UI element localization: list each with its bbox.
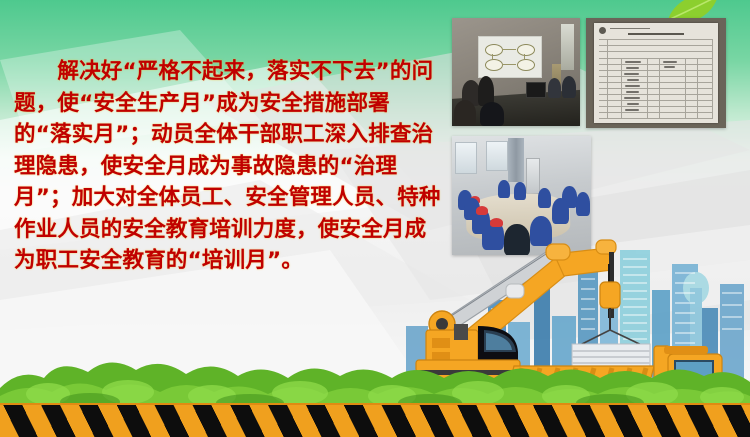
projector-screen [478, 36, 542, 78]
presentation-slide: 解决好“严格不起来，落实不下去”的问题，使“安全生产月”成为安全措施部署的“落实… [0, 0, 750, 437]
foliage-band [0, 348, 750, 410]
attendance-form-paper [594, 23, 718, 123]
hazard-stripe-footer [0, 403, 750, 437]
photo-signin-form [586, 18, 726, 128]
photo-meeting-room [452, 18, 580, 126]
slide-body-text: 解决好“严格不起来，落实不下去”的问题，使“安全生产月”成为安全措施部署的“落实… [14, 56, 444, 277]
